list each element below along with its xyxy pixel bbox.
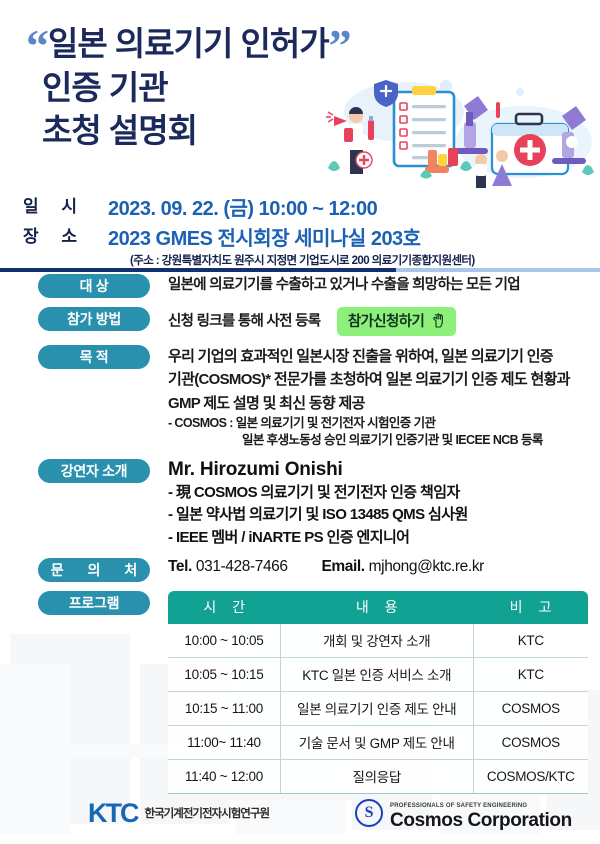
date-label: 일 시 <box>0 192 86 217</box>
cell-time: 10:05 ~ 10:15 <box>168 658 280 692</box>
cell-remark: KTC <box>473 624 588 658</box>
apply-button[interactable]: 참가신청하기 <box>337 307 456 336</box>
email-label: Email. <box>321 558 364 575</box>
contact-line: Tel. 031-428-7466 Email. mjhong@ktc.re.k… <box>168 558 600 576</box>
date-row: 일 시 2023. 09. 22. (금) 10:00 ~ 12:00 <box>0 192 600 221</box>
section-speaker: 강연자 소개 Mr. Hirozumi Onishi - 現 COSMOS 의료… <box>0 459 600 550</box>
col-header-time: 시 간 <box>168 591 280 624</box>
col-header-remark: 비 고 <box>473 591 588 624</box>
quote-open-icon: “ <box>26 20 48 71</box>
cell-remark: COSMOS <box>473 726 588 760</box>
place-value: 2023 GMES 전시회장 세미나실 203호 <box>108 222 421 251</box>
quote-close-icon: ” <box>329 20 351 71</box>
event-details: 일 시 2023. 09. 22. (금) 10:00 ~ 12:00 장 소 … <box>0 192 600 268</box>
title-line-2: 인증 기관 <box>42 66 600 110</box>
pointing-hand-icon <box>432 313 445 332</box>
purpose-note-1: - COSMOS : 일본 의료기기 및 전기전자 시험인증 기관 <box>168 415 600 433</box>
title-line-3: 초청 설명회 <box>42 109 600 153</box>
purpose-label-pill: 목 적 <box>38 345 150 369</box>
section-target: 대 상 일본에 의료기기를 수출하고 있거나 수출을 희망하는 모든 기업 <box>0 274 600 298</box>
cell-content: KTC 일본 인증 서비스 소개 <box>280 658 473 692</box>
program-label-pill: 프로그램 <box>38 591 150 615</box>
cell-content: 기술 문서 및 GMP 제도 안내 <box>280 726 473 760</box>
email-value[interactable]: mjhong@ktc.re.kr <box>369 558 484 575</box>
table-header-row: 시 간 내 용 비 고 <box>168 591 588 624</box>
table-row: 10:15 ~ 11:00 일본 의료기기 인증 제도 안내 COSMOS <box>168 692 588 726</box>
tel-value[interactable]: 031-428-7466 <box>196 558 288 575</box>
table-row: 10:05 ~ 10:15 KTC 일본 인증 서비스 소개 KTC <box>168 658 588 692</box>
section-program: 프로그램 시 간 내 용 비 고 10:00 ~ 10:05 개회 및 강연자 … <box>0 591 600 794</box>
seminar-poster: “일본 의료기기 인허가” 인증 기관 초청 설명회 일 시 2023. 09.… <box>0 0 600 844</box>
apply-button-label: 참가신청하기 <box>348 314 424 330</box>
program-table: 시 간 내 용 비 고 10:00 ~ 10:05 개회 및 강연자 소개 KT… <box>168 591 588 794</box>
cell-time: 11:00~ 11:40 <box>168 726 280 760</box>
contact-label-pill: 문 의 처 <box>38 558 150 582</box>
target-label-pill: 대 상 <box>38 274 150 298</box>
cell-remark: KTC <box>473 658 588 692</box>
cell-time: 10:15 ~ 11:00 <box>168 692 280 726</box>
poster-footer: KTC 한국기계전기전자시험연구원 S PROFESSIONALS OF SAF… <box>0 792 600 834</box>
speaker-bullet-1: - 現 COSMOS 의료기기 및 전기전자 인증 책임자 <box>168 482 600 505</box>
speaker-bullet-2: - 일본 약사법 의료기기 및 ISO 13485 QMS 심사원 <box>168 504 600 527</box>
cell-content: 개회 및 강연자 소개 <box>280 624 473 658</box>
cell-remark: COSMOS <box>473 692 588 726</box>
info-sections: 대 상 일본에 의료기기를 수출하고 있거나 수출을 희망하는 모든 기업 참가… <box>0 258 600 794</box>
cosmos-name: Cosmos Corporation <box>390 810 572 831</box>
speaker-label-pill: 강연자 소개 <box>38 459 150 483</box>
table-row: 10:00 ~ 10:05 개회 및 강연자 소개 KTC <box>168 624 588 658</box>
cosmos-logo: S PROFESSIONALS OF SAFETY ENGINEERING Co… <box>355 795 572 832</box>
cosmos-tagline: PROFESSIONALS OF SAFETY ENGINEERING <box>390 803 527 809</box>
purpose-line-3: GMP 제도 설명 및 최신 동향 제공 <box>168 392 600 415</box>
poster-header: “일본 의료기기 인허가” 인증 기관 초청 설명회 일 시 2023. 09.… <box>0 0 600 258</box>
cell-time: 11:40 ~ 12:00 <box>168 760 280 794</box>
cosmos-monogram-icon: S <box>355 799 383 827</box>
purpose-note-2: 일본 후생노동성 승인 의료기기 인증기관 및 IECEE NCB 등록 <box>168 432 600 450</box>
speaker-name: Mr. Hirozumi Onishi <box>168 459 600 481</box>
speaker-bullet-3: - IEEE 멤버 / iNARTE PS 인증 엔지니어 <box>168 527 600 550</box>
title-text-1: 일본 의료기기 인허가 <box>48 25 329 62</box>
section-purpose: 목 적 우리 기업의 효과적인 일본시장 진출을 위하여, 일본 의료기기 인증… <box>0 345 600 450</box>
tel-label: Tel. <box>168 558 192 575</box>
col-header-content: 내 용 <box>280 591 473 624</box>
purpose-line-2: 기관(COSMOS)* 전문가를 초청하여 일본 의료기기 인증 제도 현황과 <box>168 368 600 391</box>
place-row: 장 소 2023 GMES 전시회장 세미나실 203호 <box>0 222 600 251</box>
how-to-join-text: 신청 링크를 통해 사전 등록 <box>168 314 320 330</box>
section-how-to-join: 참가 방법 신청 링크를 통해 사전 등록 참가신청하기 <box>0 307 600 336</box>
cell-remark: COSMOS/KTC <box>473 760 588 794</box>
poster-title: “일본 의료기기 인허가” 인증 기관 초청 설명회 <box>26 22 600 153</box>
table-row: 11:40 ~ 12:00 질의응답 COSMOS/KTC <box>168 760 588 794</box>
cell-content: 질의응답 <box>280 760 473 794</box>
date-value: 2023. 09. 22. (금) 10:00 ~ 12:00 <box>108 192 377 221</box>
ktc-logo-mark: KTC <box>88 798 138 829</box>
purpose-line-1: 우리 기업의 효과적인 일본시장 진출을 위하여, 일본 의료기기 인증 <box>168 345 600 368</box>
section-contact: 문 의 처 Tel. 031-428-7466 Email. mjhong@kt… <box>0 558 600 582</box>
cell-time: 10:00 ~ 10:05 <box>168 624 280 658</box>
cell-content: 일본 의료기기 인증 제도 안내 <box>280 692 473 726</box>
target-text: 일본에 의료기기를 수출하고 있거나 수출을 희망하는 모든 기업 <box>168 274 600 296</box>
place-label: 장 소 <box>0 222 86 247</box>
ktc-logo-korean-name: 한국기계전기전자시험연구원 <box>145 805 270 821</box>
ktc-logo: KTC 한국기계전기전자시험연구원 <box>88 798 269 829</box>
how-to-join-label-pill: 참가 방법 <box>38 307 150 331</box>
table-row: 11:00~ 11:40 기술 문서 및 GMP 제도 안내 COSMOS <box>168 726 588 760</box>
title-line-1: “일본 의료기기 인허가” <box>26 22 600 66</box>
